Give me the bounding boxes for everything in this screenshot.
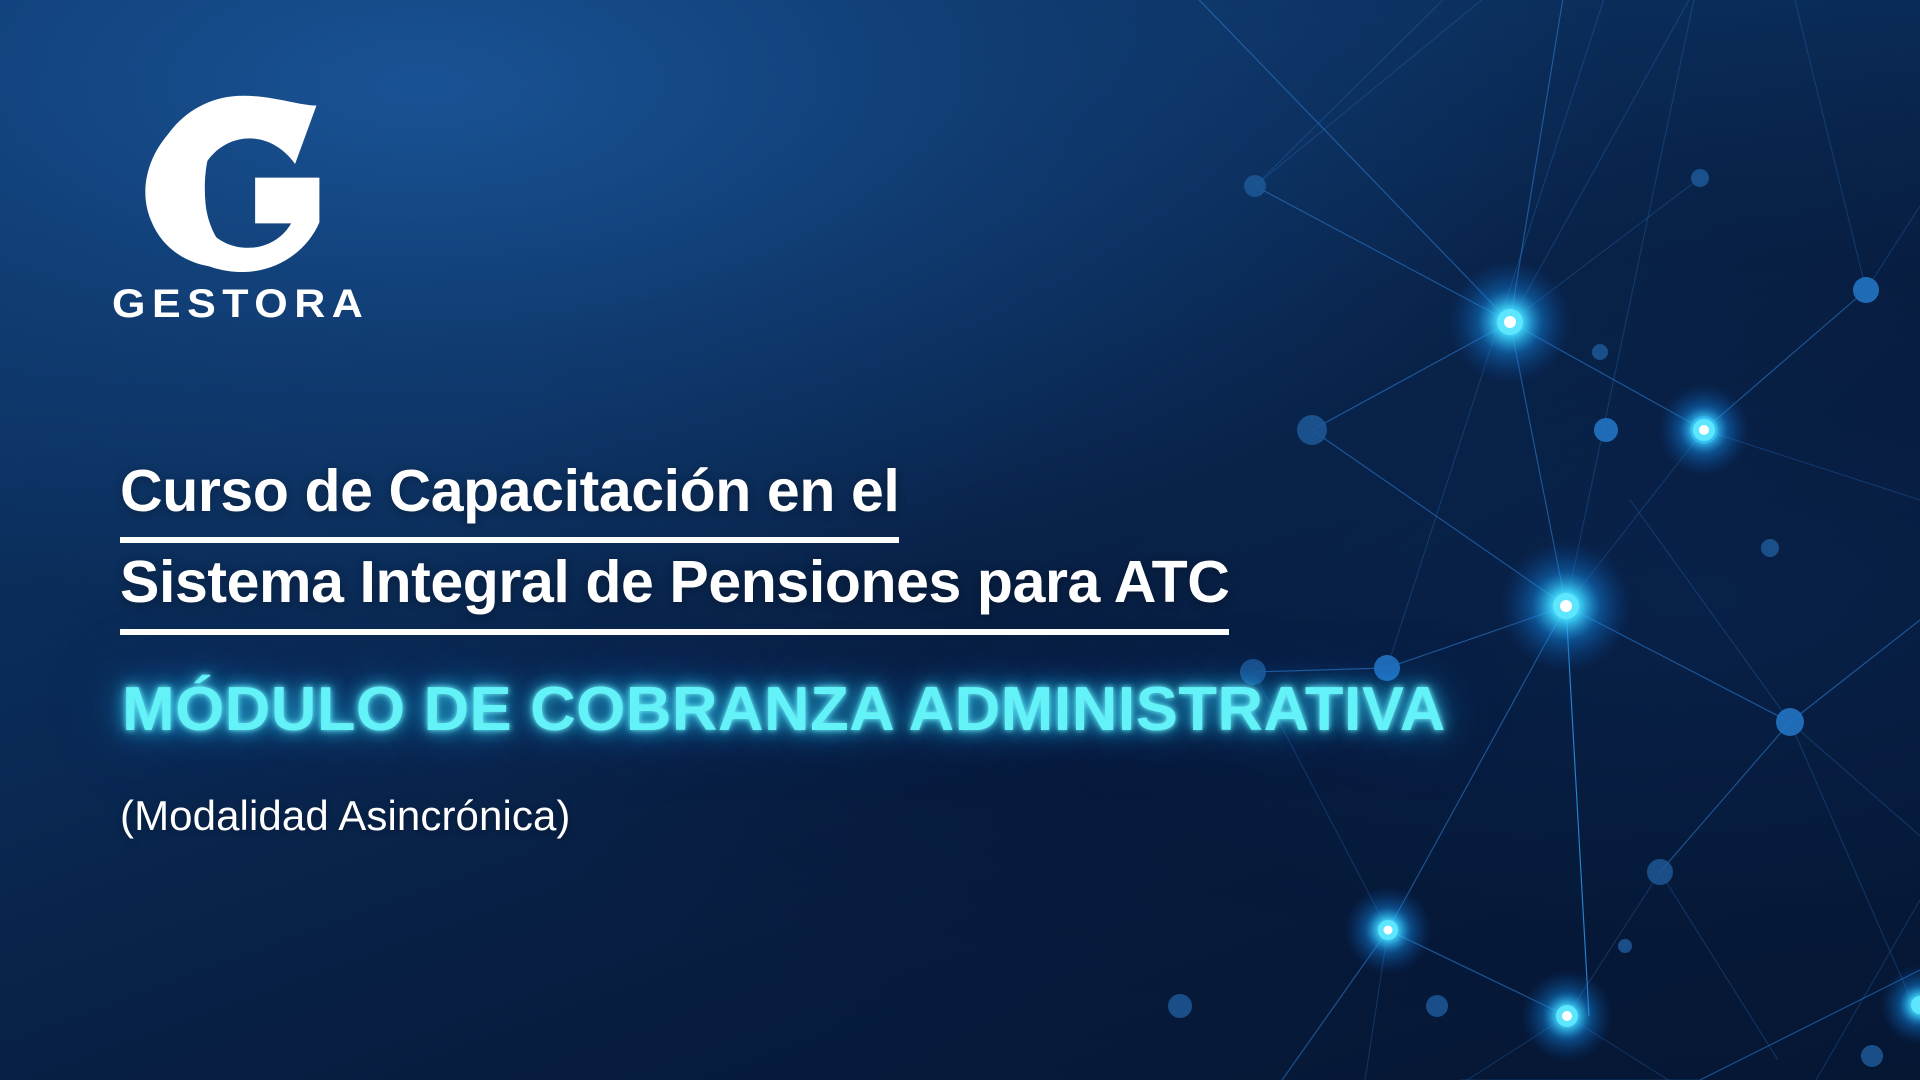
headline-line-1: Curso de Capacitación en el bbox=[120, 452, 1540, 543]
headline-block: Curso de Capacitación en el Sistema Inte… bbox=[120, 452, 1540, 635]
module-title: MÓDULO DE COBRANZA ADMINISTRATIVA bbox=[122, 679, 1446, 741]
modality-subtitle: (Modalidad Asincrónica) bbox=[120, 795, 571, 837]
gestora-g-swoosh-logo-icon bbox=[124, 88, 322, 273]
headline-line-1-text: Curso de Capacitación en el bbox=[120, 452, 899, 543]
headline-line-2: Sistema Integral de Pensiones para ATC bbox=[120, 543, 1540, 634]
brand-logo: GESTORA bbox=[112, 88, 364, 326]
presentation-slide: GESTORA Curso de Capacitación en el Sist… bbox=[0, 0, 1920, 1080]
headline-line-2-text: Sistema Integral de Pensiones para ATC bbox=[120, 543, 1229, 634]
brand-wordmark: GESTORA bbox=[112, 285, 342, 325]
